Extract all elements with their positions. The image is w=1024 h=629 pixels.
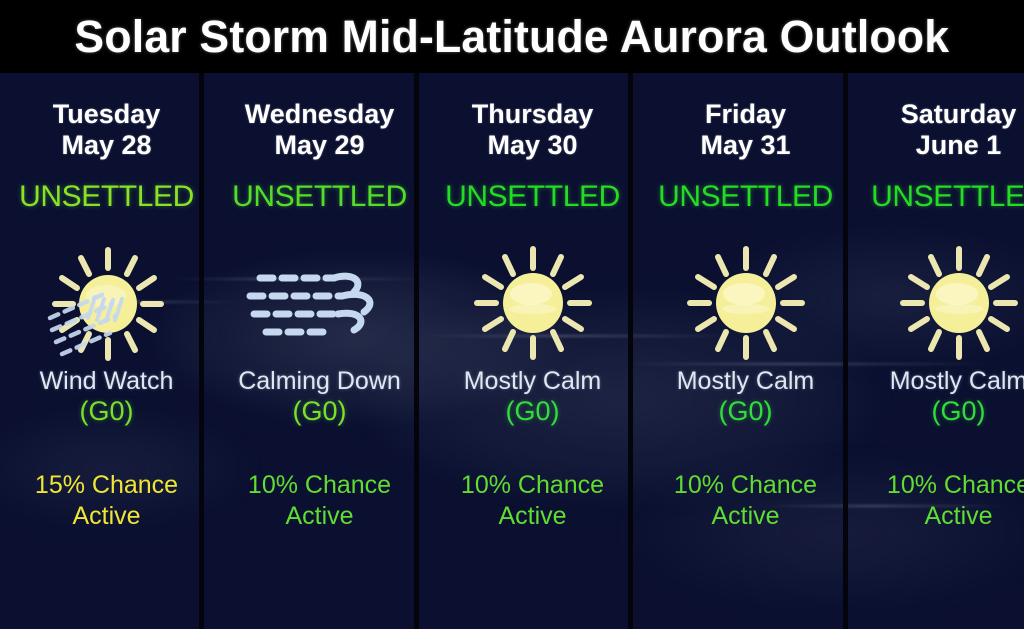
chance-percent-line: 15% Chance — [35, 471, 178, 499]
storm-scale: (G0) — [0, 395, 213, 427]
chance-active: 15% Chance Active — [0, 470, 213, 532]
condition-label: Mostly Calm — [426, 367, 639, 396]
weather-icon-wrap — [852, 235, 1024, 367]
day-name: Thursday — [426, 99, 639, 130]
day-date: May 31 — [639, 130, 852, 161]
day-columns: Tuesday May 28 UNSETTLED — [0, 73, 1024, 629]
status-badge: UNSETTLED — [426, 180, 639, 213]
weather-icon-wrap — [426, 235, 639, 367]
day-column-wednesday[interactable]: Wednesday May 29 UNSETTLED — [213, 73, 426, 629]
weather-icon-wrap — [0, 235, 213, 367]
title-bar: Solar Storm Mid-Latitude Aurora Outlook — [0, 0, 1024, 73]
condition-label: Mostly Calm — [852, 367, 1024, 396]
sun-icon — [895, 241, 1023, 361]
day-column-saturday[interactable]: Saturday June 1 UNSETTLED — [852, 73, 1024, 629]
day-column-friday[interactable]: Friday May 31 UNSETTLED — [639, 73, 852, 629]
chance-percent-line: 10% Chance — [461, 471, 604, 499]
day-name: Tuesday — [0, 99, 213, 130]
storm-scale: (G0) — [852, 395, 1024, 427]
chance-active: 10% Chance Active — [426, 470, 639, 532]
chance-active: 10% Chance Active — [852, 470, 1024, 532]
day-column-thursday[interactable]: Thursday May 30 UNSETTLED — [426, 73, 639, 629]
chance-active-line: Active — [213, 501, 426, 532]
condition-label: Wind Watch — [0, 367, 213, 396]
chance-active-line: Active — [0, 501, 213, 532]
chance-active: 10% Chance Active — [213, 470, 426, 532]
day-date: June 1 — [852, 130, 1024, 161]
status-badge: UNSETTLED — [0, 180, 213, 213]
day-name: Wednesday — [213, 99, 426, 130]
sun-icon — [682, 241, 810, 361]
chance-active-line: Active — [639, 501, 852, 532]
sun-icon — [469, 241, 597, 361]
chance-percent-line: 10% Chance — [887, 471, 1024, 499]
status-badge: UNSETTLED — [639, 180, 852, 213]
weather-icon-wrap — [213, 235, 426, 367]
day-date: May 28 — [0, 130, 213, 161]
chance-percent-line: 10% Chance — [674, 471, 817, 499]
page-title: Solar Storm Mid-Latitude Aurora Outlook — [75, 11, 950, 63]
day-column-tuesday[interactable]: Tuesday May 28 UNSETTLED — [0, 73, 213, 629]
storm-scale: (G0) — [426, 395, 639, 427]
chance-active-line: Active — [426, 501, 639, 532]
storm-scale: (G0) — [213, 395, 426, 427]
condition-label: Mostly Calm — [639, 367, 852, 396]
aurora-outlook-screen: Solar Storm Mid-Latitude Aurora Outlook … — [0, 0, 1024, 629]
storm-scale: (G0) — [639, 395, 852, 427]
condition-label: Calming Down — [213, 367, 426, 396]
day-date: May 29 — [213, 130, 426, 161]
forecast-panel: Tuesday May 28 UNSETTLED — [0, 73, 1024, 629]
wind-icon — [242, 246, 397, 356]
chance-active-line: Active — [852, 501, 1024, 532]
day-name: Friday — [639, 99, 852, 130]
day-date: May 30 — [426, 130, 639, 161]
status-badge: UNSETTLED — [213, 180, 426, 213]
weather-icon-wrap — [639, 235, 852, 367]
sun-with-wind-icon — [32, 238, 182, 363]
status-badge: UNSETTLED — [852, 180, 1024, 213]
chance-percent-line: 10% Chance — [248, 471, 391, 499]
chance-active: 10% Chance Active — [639, 470, 852, 532]
day-name: Saturday — [852, 99, 1024, 130]
